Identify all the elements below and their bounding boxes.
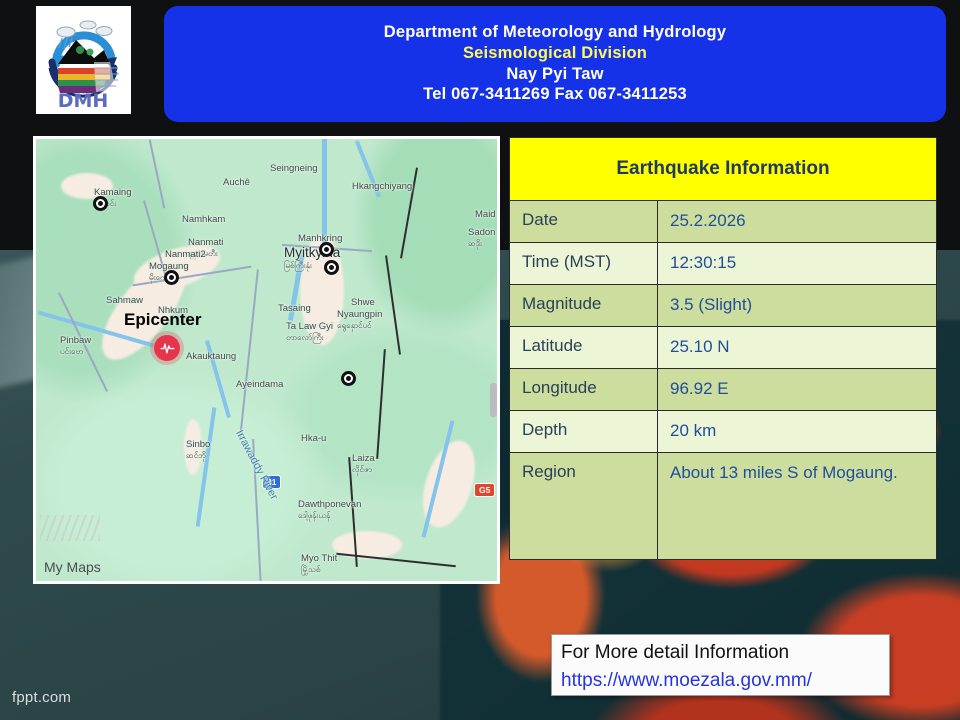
table-row: RegionAbout 13 miles S of Mogaung. — [510, 453, 936, 559]
table-row-value: 12:30:15 — [658, 243, 936, 284]
map-place-label: Hka-u — [301, 433, 326, 444]
more-info-label: For More detail Information — [561, 639, 889, 667]
fppt-watermark: fppt.com — [12, 689, 71, 706]
map-place-label: Manhkring — [298, 233, 342, 244]
map-scrollbar[interactable] — [490, 383, 497, 417]
epicenter-map[interactable]: 31 G5 Kamaingကမာင်းSeingneingAuchêHkangc… — [33, 136, 500, 584]
my-maps-attribution: My Maps — [44, 559, 101, 575]
map-place-label: Hkangchiyang — [352, 181, 412, 192]
table-row-value: 25.2.2026 — [658, 201, 936, 242]
map-place-label: Nanmati2 — [165, 249, 206, 260]
map-place-label-burmese: မြို့သစ် — [301, 564, 320, 576]
header-line-city: Nay Pyi Taw — [506, 66, 603, 84]
table-row-label: Region — [510, 453, 658, 559]
table-row: Date25.2.2026 — [510, 201, 936, 243]
map-place-label-burmese: တာလော်ကြီး — [286, 332, 323, 344]
table-row-value: 96.92 E — [658, 369, 936, 410]
table-row-value: 20 km — [658, 411, 936, 452]
map-place-label: Sadon — [468, 227, 495, 238]
station-center-dot — [324, 247, 329, 252]
station-myitkyina-1[interactable] — [341, 371, 356, 386]
seismograph-wave-icon — [160, 341, 175, 356]
map-place-label: Laiza — [352, 453, 375, 464]
station-kamaing[interactable] — [93, 196, 108, 211]
map-place-label: Dawthponevan — [298, 499, 361, 510]
map-place-label: Seingneing — [270, 163, 318, 174]
table-title: Earthquake Information — [616, 158, 829, 180]
map-place-label: Ayeindama — [236, 379, 283, 390]
table-row-label: Latitude — [510, 327, 658, 368]
more-information-box[interactable]: For More detail Information https://www.… — [551, 634, 890, 696]
table-row-value: About 13 miles S of Mogaung. — [658, 453, 936, 559]
table-row-value: 3.5 (Slight) — [658, 285, 936, 326]
map-place-label-burmese: မြစ်ကြီးနုံး — [284, 260, 312, 272]
station-myitkyina-3[interactable] — [324, 260, 339, 275]
table-row-label: Time (MST) — [510, 243, 658, 284]
epicenter-label: Epicenter — [124, 310, 201, 330]
map-place-label-burmese: ဆဒိုး — [468, 238, 482, 250]
map-place-label: Sahmaw — [106, 295, 143, 306]
table-row: Latitude25.10 N — [510, 327, 936, 369]
map-place-label: Ta Law Gyi — [286, 321, 333, 332]
map-place-label: Myo Thit — [301, 553, 337, 564]
table-body: Date25.2.2026Time (MST)12:30:15Magnitude… — [510, 201, 936, 559]
station-center-dot — [169, 275, 174, 280]
map-place-label: Akauktaung — [186, 351, 236, 362]
svg-text:DMH: DMH — [58, 90, 109, 112]
table-row-label: Longitude — [510, 369, 658, 410]
route-shield-g5: G5 — [474, 483, 495, 497]
moezala-website-link[interactable]: https://www.moezala.gov.mm/ — [561, 667, 889, 695]
table-row: Longitude96.92 E — [510, 369, 936, 411]
table-row: Depth20 km — [510, 411, 936, 453]
station-center-dot — [329, 265, 334, 270]
map-place-label: Auchê — [223, 177, 250, 188]
map-place-label: Namhkam — [182, 214, 225, 225]
map-place-label-burmese: လိုင်ဇာ — [352, 464, 372, 476]
table-title-bar: Earthquake Information — [510, 138, 936, 201]
map-place-label-burmese: ဒေါ့ဖုန်းယန် — [298, 510, 330, 522]
map-place-label: Pinbaw — [60, 335, 91, 346]
header-line-division: Seismological Division — [463, 45, 647, 63]
table-row: Magnitude3.5 (Slight) — [510, 285, 936, 327]
department-header-banner: Department of Meteorology and Hydrology … — [164, 6, 946, 122]
water-cycle-icon: DMH — [36, 6, 131, 114]
map-place-label-burmese: ဆင်ဘို — [186, 450, 206, 462]
map-place-label: Nanmati — [188, 237, 223, 248]
map-dotted-region — [40, 515, 100, 541]
map-place-label: Nyaungpin — [337, 309, 382, 320]
station-center-dot — [346, 376, 351, 381]
dmh-logo: DMH — [36, 6, 131, 114]
map-place-label: Shwe — [351, 297, 375, 308]
map-place-label: Maid — [475, 209, 496, 220]
station-mogaung[interactable] — [164, 270, 179, 285]
station-myitkyina-2[interactable] — [319, 242, 334, 257]
table-row: Time (MST)12:30:15 — [510, 243, 936, 285]
map-place-label-burmese: ပင်းဗော — [60, 346, 83, 358]
table-row-label: Depth — [510, 411, 658, 452]
map-place-label: Sinbo — [186, 439, 210, 450]
table-row-value: 25.10 N — [658, 327, 936, 368]
map-canvas[interactable]: 31 G5 Kamaingကမာင်းSeingneingAuchêHkangc… — [36, 139, 497, 581]
map-place-label: Tasaing — [278, 303, 311, 314]
station-center-dot — [98, 201, 103, 206]
table-row-label: Date — [510, 201, 658, 242]
map-place-label-burmese: ရွေနှောင်ပင် — [337, 320, 371, 332]
header-line-contact: Tel 067-3411269 Fax 067-3411253 — [423, 86, 687, 104]
epicenter-marker[interactable] — [154, 335, 180, 361]
table-row-label: Magnitude — [510, 285, 658, 326]
earthquake-information-table: Earthquake Information Date25.2.2026Time… — [509, 137, 937, 560]
header-line-department: Department of Meteorology and Hydrology — [384, 24, 726, 42]
